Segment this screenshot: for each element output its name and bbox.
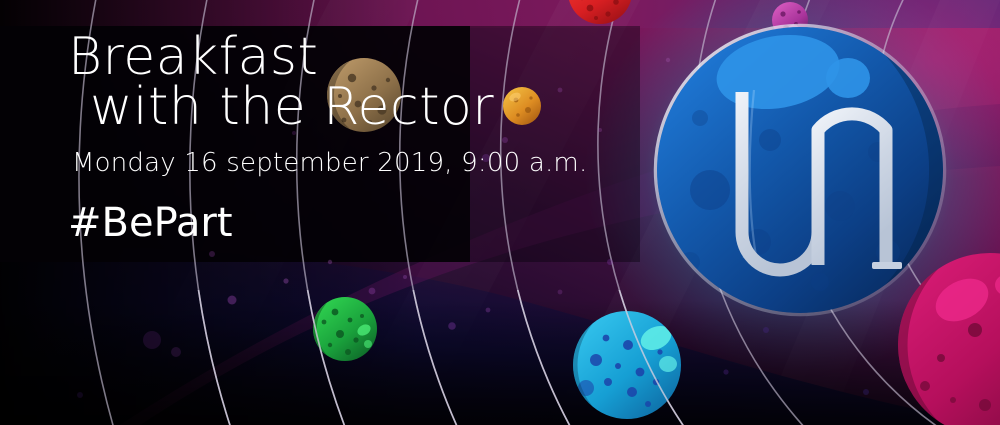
- banner-text-block: Breakfast with the Rector Monday 16 sept…: [68, 32, 587, 246]
- event-date-time: Monday 16 september 2019, 9:00 a.m.: [72, 148, 587, 178]
- title-line-1: Breakfast: [68, 32, 587, 82]
- title-line-2: with the Rector: [90, 82, 587, 132]
- event-banner: Breakfast with the Rector Monday 16 sept…: [0, 0, 1000, 425]
- hashtag: #BePart: [68, 200, 587, 246]
